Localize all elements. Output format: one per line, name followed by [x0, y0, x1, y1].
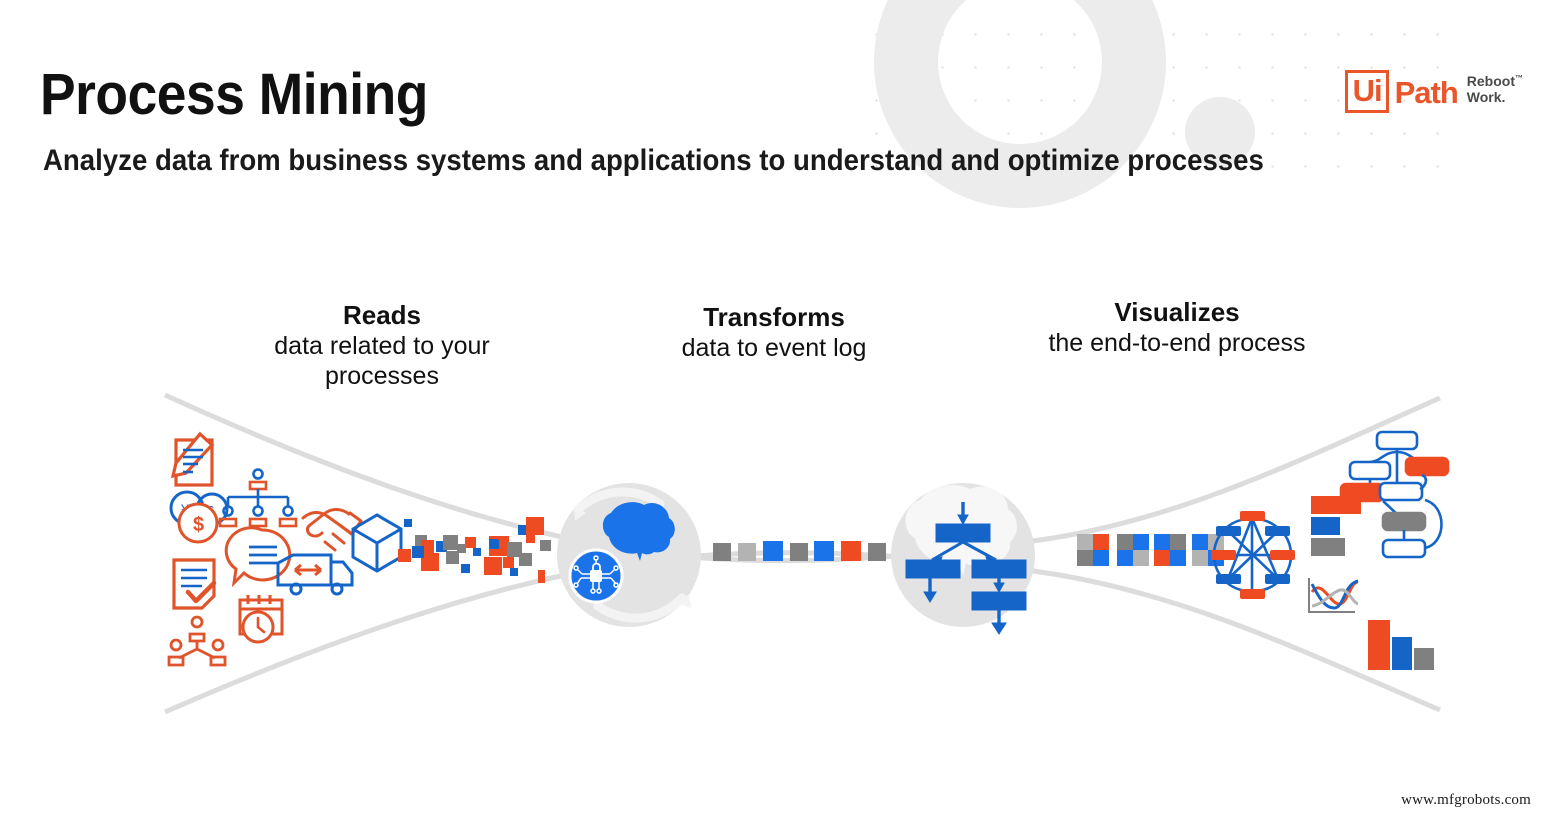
- document-pen-icon: [173, 434, 212, 485]
- calendar-clock-icon: [240, 595, 282, 642]
- data-block-group: [1117, 534, 1149, 566]
- transform-node: [557, 483, 701, 627]
- raw-data-squares: [398, 517, 551, 583]
- event-log-squares: [713, 541, 886, 561]
- document-check-icon: [174, 560, 214, 608]
- process-mining-diagram: ¥ £ $: [0, 0, 1545, 817]
- svg-text:$: $: [193, 514, 204, 536]
- data-block-group: [1077, 534, 1109, 566]
- chat-bubble-icon: [226, 528, 290, 583]
- data-block-group: [1154, 534, 1186, 566]
- org-chart-icon: [220, 470, 296, 527]
- vertical-bar-chart-icon: [1368, 620, 1434, 670]
- source-watermark: www.mfgrobots.com: [1401, 792, 1531, 809]
- currency-coins-icon: ¥ £ $: [171, 492, 227, 542]
- slide-canvas: Process Mining Analyze data from busines…: [0, 0, 1545, 817]
- line-chart-icon: [1309, 578, 1358, 612]
- horizontal-bar-chart-icon: [1311, 496, 1361, 556]
- structured-data-blocks: [1077, 534, 1224, 566]
- ai-security-chip-icon: [570, 550, 622, 602]
- team-people-icon: [169, 617, 225, 665]
- process-node: [891, 483, 1035, 634]
- network-graph-icon: [1211, 511, 1295, 599]
- cube-3d-icon: [353, 515, 401, 571]
- process-graph-icon: [1341, 432, 1448, 557]
